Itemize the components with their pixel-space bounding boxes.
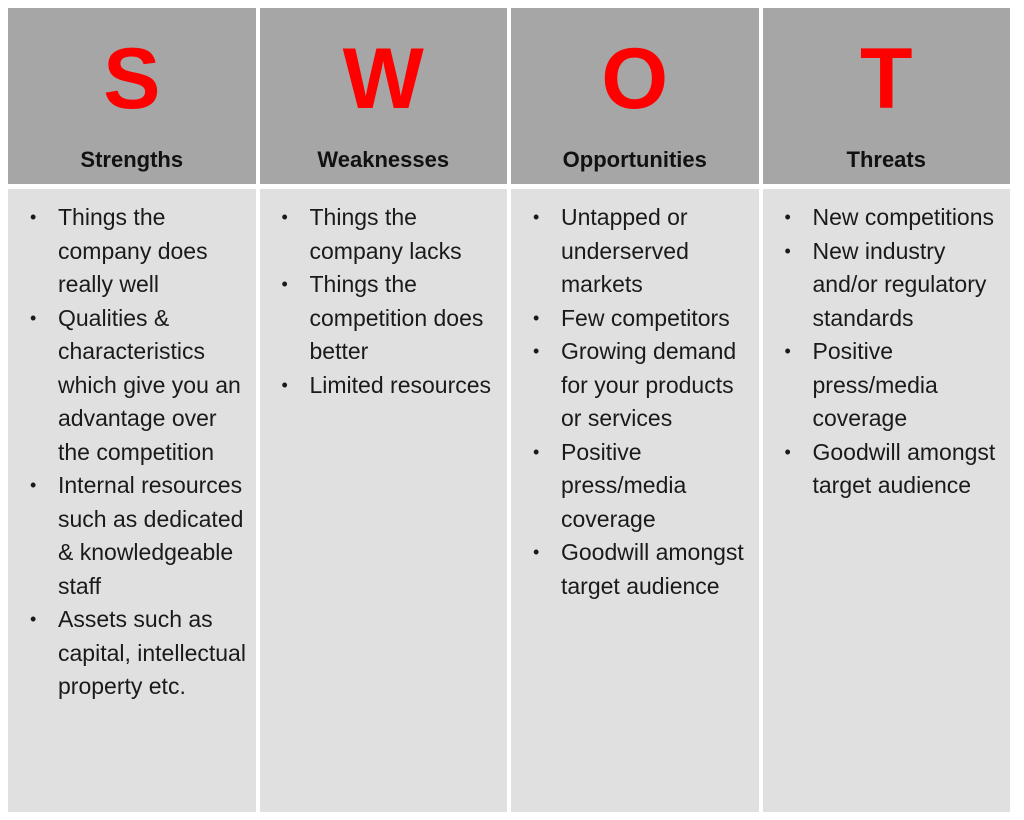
swot-column-strengths: S Strengths •Things the company does rea… [8, 8, 256, 812]
bullet-icon: • [533, 536, 545, 570]
column-body-weaknesses: •Things the company lacks •Things the co… [260, 189, 508, 812]
swot-letter-w: W [343, 36, 424, 122]
list-item: •New industry and/or regulatory standard… [769, 235, 1005, 336]
bullet-icon: • [533, 335, 545, 369]
bullet-icon: • [282, 369, 294, 403]
bullet-list-opportunities: •Untapped or underserved markets •Few co… [517, 201, 753, 603]
bullet-icon: • [30, 201, 42, 235]
list-item: •Things the company does really well [14, 201, 250, 302]
bullet-icon: • [533, 302, 545, 336]
list-item: •Qualities & characteristics which give … [14, 302, 250, 470]
bullet-list-strengths: •Things the company does really well •Qu… [14, 201, 250, 704]
list-item-label: Positive press/media coverage [561, 439, 686, 532]
bullet-icon: • [533, 201, 545, 235]
swot-column-threats: T Threats •New competitions •New industr… [763, 8, 1011, 812]
list-item-label: Internal resources such as dedicated & k… [58, 472, 243, 599]
bullet-icon: • [785, 235, 797, 269]
column-title-opportunities: Opportunities [511, 148, 759, 172]
swot-letter-o: O [601, 36, 668, 122]
column-header-threats: T Threats [763, 8, 1011, 184]
bullet-icon: • [785, 436, 797, 470]
column-body-strengths: •Things the company does really well •Qu… [8, 189, 256, 812]
column-header-weaknesses: W Weaknesses [260, 8, 508, 184]
column-header-strengths: S Strengths [8, 8, 256, 184]
list-item-label: Things the competition does better [310, 271, 484, 364]
list-item-label: Assets such as capital, intellectual pro… [58, 606, 246, 699]
bullet-icon: • [30, 302, 42, 336]
list-item-label: Goodwill amongst target audience [813, 439, 996, 499]
swot-board: S Strengths •Things the company does rea… [8, 8, 1010, 812]
swot-letter-s: S [103, 36, 160, 122]
list-item: •Positive press/media coverage [517, 436, 753, 537]
list-item: •Internal resources such as dedicated & … [14, 469, 250, 603]
list-item: •Things the company lacks [266, 201, 502, 268]
list-item-label: Positive press/media coverage [813, 338, 938, 431]
list-item-label: Few competitors [561, 305, 730, 331]
list-item-label: Untapped or underserved markets [561, 204, 689, 297]
column-body-threats: •New competitions •New industry and/or r… [763, 189, 1011, 812]
list-item: •Things the competition does better [266, 268, 502, 369]
column-header-opportunities: O Opportunities [511, 8, 759, 184]
column-title-threats: Threats [763, 148, 1011, 172]
bullet-icon: • [785, 335, 797, 369]
list-item-label: Things the company does really well [58, 204, 208, 297]
list-item: •Goodwill amongst target audience [517, 536, 753, 603]
list-item: •Positive press/media coverage [769, 335, 1005, 436]
swot-letter-t: T [860, 36, 913, 122]
list-item: •Untapped or underserved markets [517, 201, 753, 302]
bullet-icon: • [30, 603, 42, 637]
bullet-icon: • [785, 201, 797, 235]
list-item-label: New industry and/or regulatory standards [813, 238, 987, 331]
swot-column-weaknesses: W Weaknesses •Things the company lacks •… [260, 8, 508, 812]
bullet-icon: • [282, 201, 294, 235]
column-title-weaknesses: Weaknesses [260, 148, 508, 172]
bullet-list-weaknesses: •Things the company lacks •Things the co… [266, 201, 502, 402]
list-item-label: Limited resources [310, 372, 492, 398]
list-item-label: Goodwill amongst target audience [561, 539, 744, 599]
bullet-icon: • [282, 268, 294, 302]
list-item: •New competitions [769, 201, 1005, 235]
list-item-label: Qualities & characteristics which give y… [58, 305, 241, 465]
list-item: •Assets such as capital, intellectual pr… [14, 603, 250, 704]
bullet-list-threats: •New competitions •New industry and/or r… [769, 201, 1005, 503]
list-item: •Limited resources [266, 369, 502, 403]
swot-column-opportunities: O Opportunities •Untapped or underserved… [511, 8, 759, 812]
list-item: •Few competitors [517, 302, 753, 336]
column-body-opportunities: •Untapped or underserved markets •Few co… [511, 189, 759, 812]
bullet-icon: • [30, 469, 42, 503]
list-item: •Goodwill amongst target audience [769, 436, 1005, 503]
list-item: •Growing demand for your products or ser… [517, 335, 753, 436]
column-title-strengths: Strengths [8, 148, 256, 172]
list-item-label: New competitions [813, 204, 995, 230]
list-item-label: Things the company lacks [310, 204, 462, 264]
bullet-icon: • [533, 436, 545, 470]
list-item-label: Growing demand for your products or serv… [561, 338, 736, 431]
